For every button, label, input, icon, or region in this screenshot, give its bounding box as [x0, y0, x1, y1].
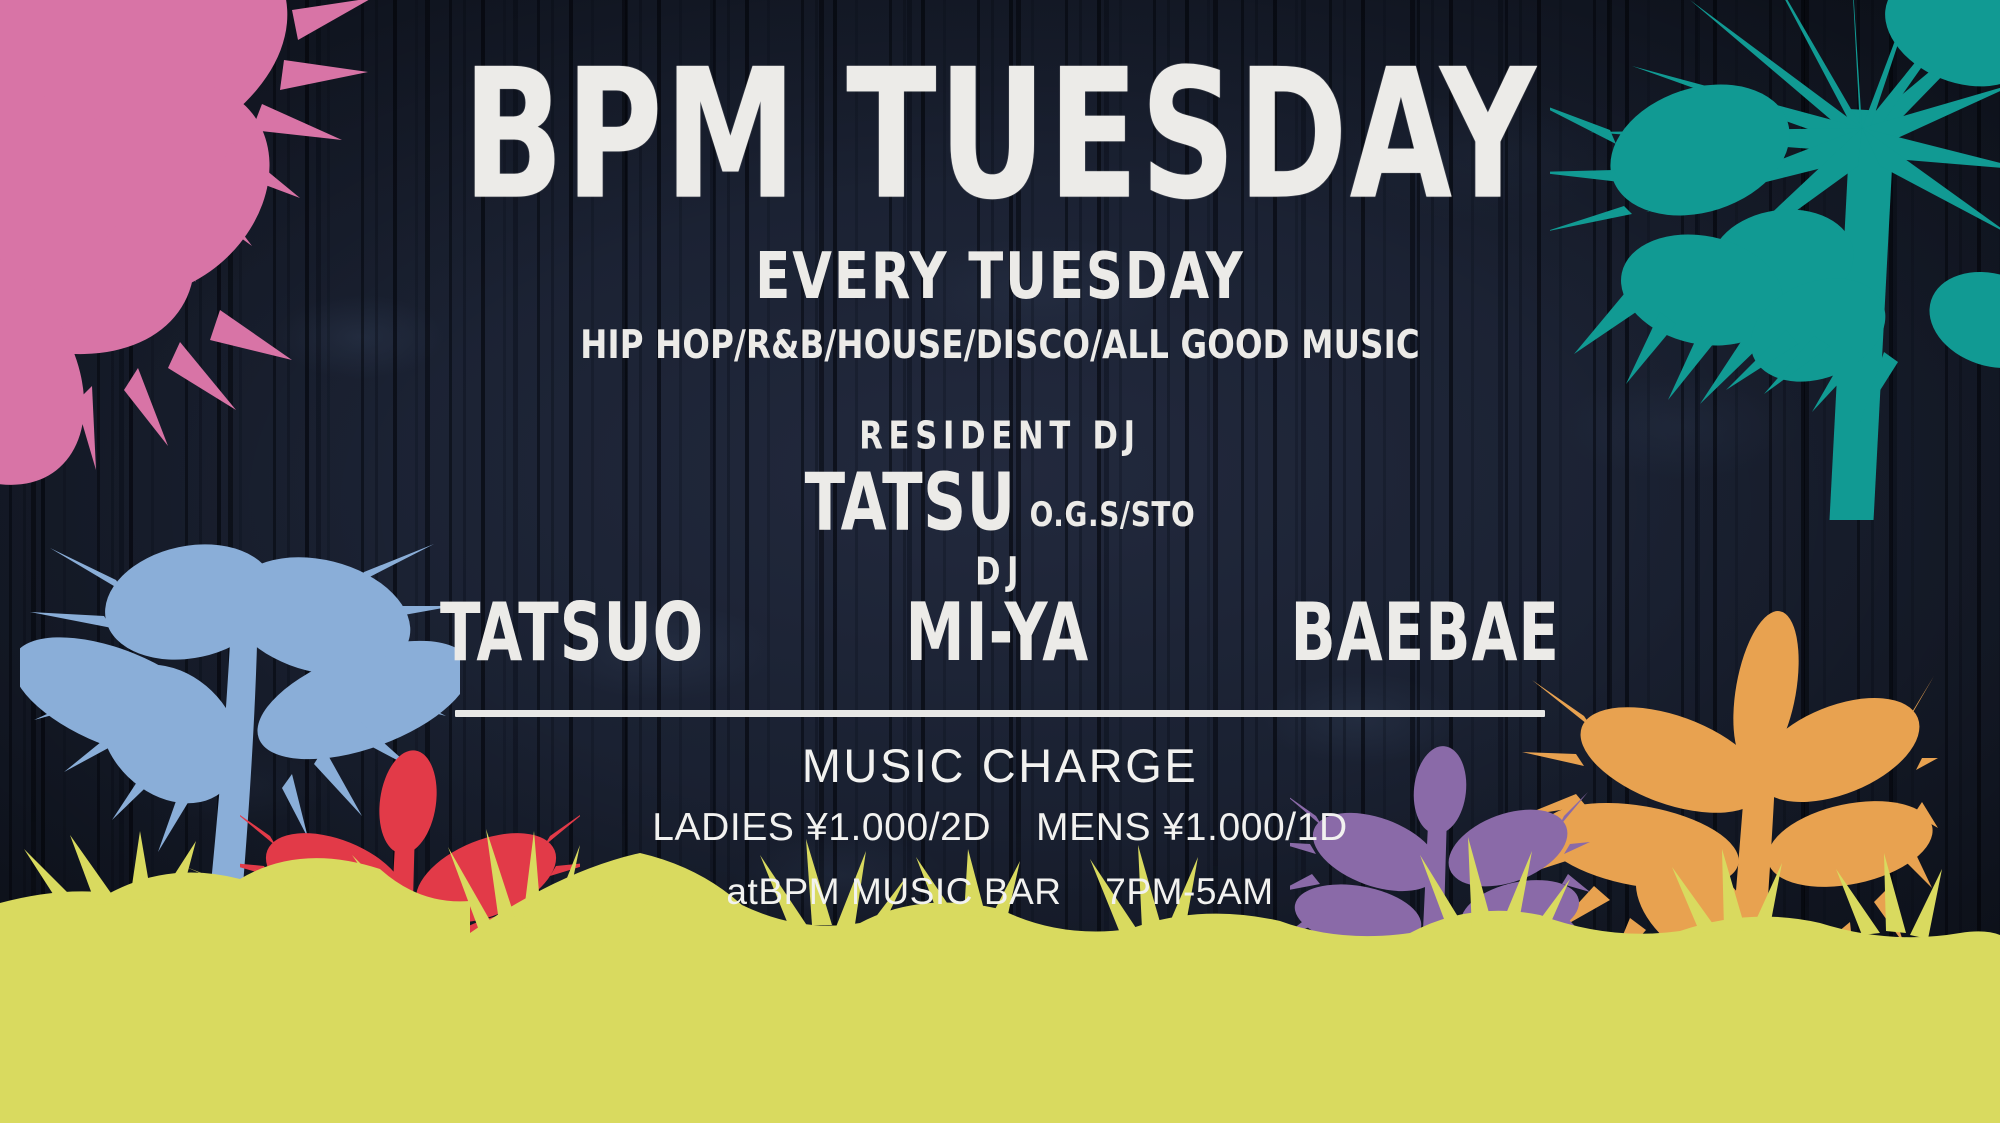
- music-charge-title: MUSIC CHARGE: [652, 739, 1347, 793]
- resident-dj-name: TATSU: [805, 463, 1016, 542]
- dj-name: BAEBAE: [1290, 593, 1560, 674]
- event-hours: 7PM-5AM: [1105, 871, 1273, 912]
- music-genres-line: HIP HOP/R&B/HOUSE/DISCO/ALL GOOD MUSIC: [580, 326, 1420, 366]
- section-divider: [455, 710, 1545, 717]
- event-frequency-subtitle: EVERY TUESDAY: [755, 246, 1245, 310]
- dj-name: MI-YA: [905, 593, 1089, 674]
- dj-name: TATSUO: [440, 593, 704, 674]
- flyer-poster: BPM TUESDAY EVERY TUESDAY HIP HOP/R&B/HO…: [0, 0, 2000, 1123]
- page-title: BPM TUESDAY: [462, 48, 1537, 224]
- music-charge-block: MUSIC CHARGE LADIES ¥1.000/2D MENS ¥1.00…: [652, 739, 1347, 914]
- flyer-content: BPM TUESDAY EVERY TUESDAY HIP HOP/R&B/HO…: [0, 0, 2000, 1123]
- mens-price: MENS ¥1.000/1D: [1036, 806, 1348, 849]
- music-charge-prices: LADIES ¥1.000/2D MENS ¥1.000/1D: [652, 805, 1347, 852]
- venue-and-hours: atBPM MUSIC BAR 7PM-5AM: [652, 870, 1347, 914]
- resident-dj-label: RESIDENT DJ: [859, 414, 1141, 459]
- venue-name: atBPM MUSIC BAR: [726, 871, 1061, 912]
- resident-dj-crew: O.G.S/STO: [1030, 498, 1196, 532]
- resident-dj-row: TATSU O.G.S/STO: [805, 470, 1196, 536]
- ladies-price: LADIES ¥1.000/2D: [652, 806, 991, 849]
- dj-lineup-row: TATSUO MI-YA BAEBAE: [440, 600, 1560, 666]
